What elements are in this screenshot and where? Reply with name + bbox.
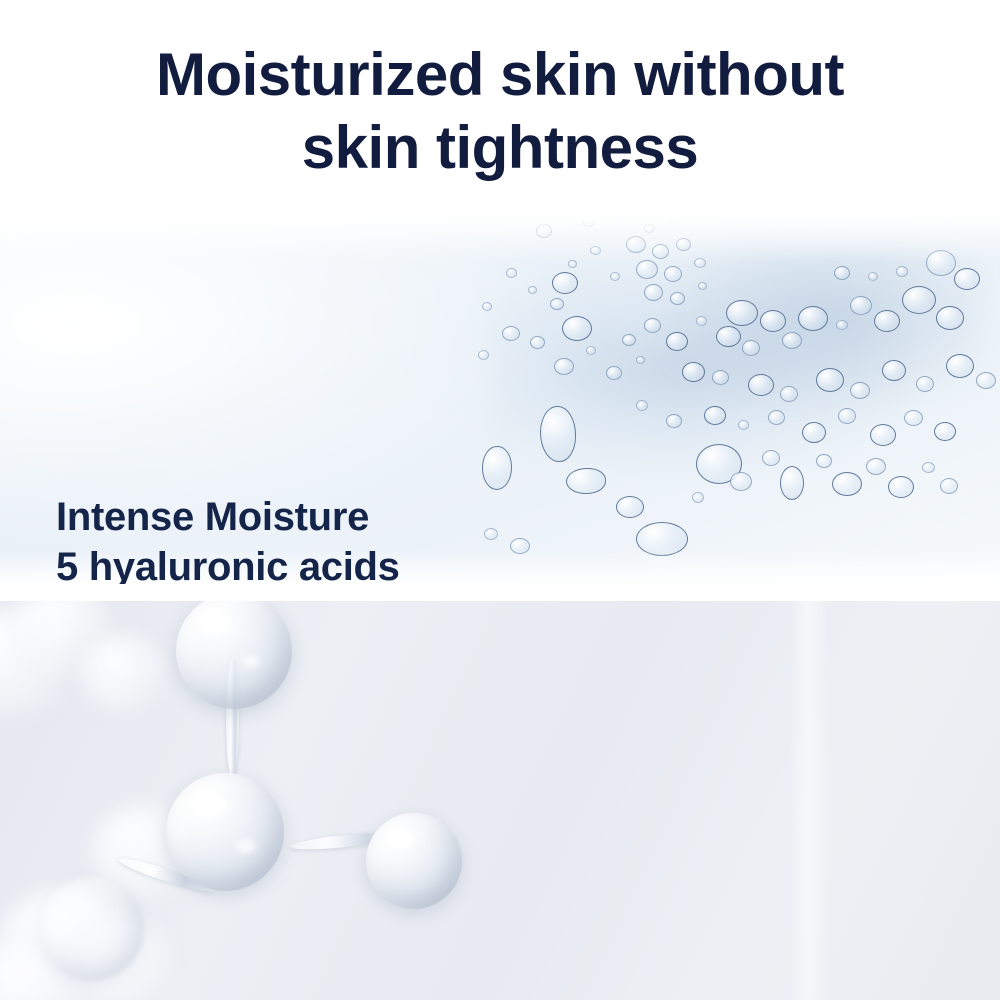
intense-moisture-heading: Intense Moisture 5 hyaluronic acids — [56, 492, 460, 584]
page-title-line-2: skin tightness — [0, 111, 1000, 184]
molecule-sphere-center — [166, 773, 284, 891]
water-molecule-image — [0, 601, 500, 1000]
page-title-line-1: Moisturized skin without — [156, 41, 844, 108]
molecule-sphere-right — [366, 813, 462, 909]
intense-moisture-heading-line-2: 5 hyaluronic acids — [56, 542, 460, 584]
section-ceramide-barrier: Strong moisturizing barrier Ceramide Cer… — [0, 601, 1000, 1000]
molecule-sphere-left — [40, 877, 144, 981]
section-intense-moisture: Intense Moisture 5 hyaluronic acids Attr… — [0, 216, 1000, 584]
skincare-infographic: Moisturized skin without skin tightness — [0, 0, 1000, 1000]
page-title: Moisturized skin without skin tightness — [0, 38, 1000, 184]
header-band: Moisturized skin without skin tightness — [0, 0, 1000, 216]
intense-moisture-heading-line-1: Intense Moisture — [56, 492, 460, 542]
intense-moisture-text-block: Intense Moisture 5 hyaluronic acids Attr… — [56, 492, 460, 584]
water-bubbles-image — [430, 216, 1000, 584]
section-divider — [0, 584, 1000, 601]
molecule-sphere-top — [176, 601, 292, 709]
